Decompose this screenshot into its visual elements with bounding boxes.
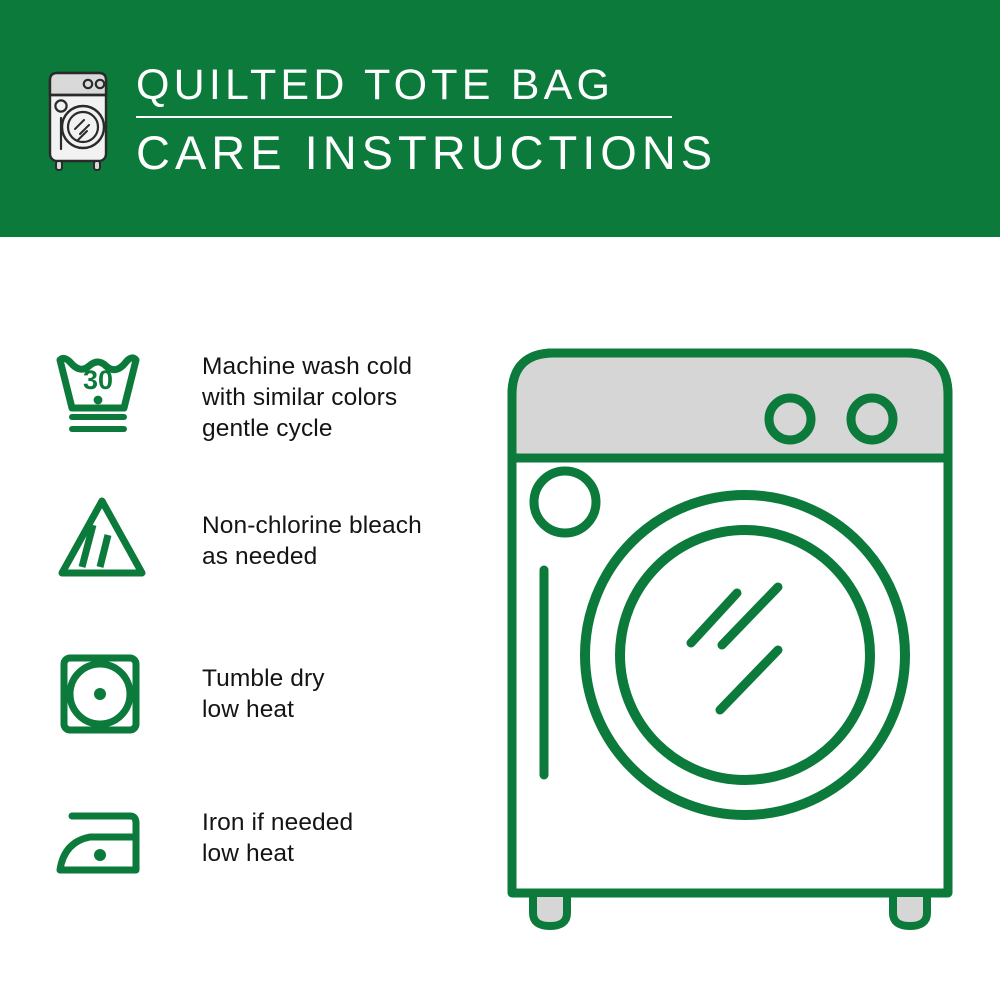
washing-machine-icon (44, 65, 114, 175)
title-divider (136, 116, 672, 118)
leg-right (893, 893, 927, 926)
care-instructions-list: 30 Machine wash cold with similar colors… (0, 237, 500, 1000)
care-row-machine-wash: 30 Machine wash cold with similar colors… (50, 342, 412, 445)
care-text-tumble-dry: Tumble dry low heat (202, 642, 325, 726)
wash-temperature-label: 30 (83, 365, 113, 395)
iron-low-heat-icon (50, 792, 154, 892)
tumble-dry-low-heat-icon (50, 642, 154, 742)
non-chlorine-bleach-triangle-icon (50, 487, 154, 587)
care-row-iron: Iron if needed low heat (50, 792, 353, 892)
care-text-iron: Iron if needed low heat (202, 792, 353, 870)
care-row-bleach: Non-chlorine bleach as needed (50, 487, 422, 587)
header-banner: QUILTED TOTE BAG CARE INSTRUCTIONS (0, 0, 1000, 237)
care-row-tumble-dry: Tumble dry low heat (50, 642, 325, 742)
leg-left (533, 893, 567, 926)
wash-tub-30-gentle-icon: 30 (50, 342, 154, 442)
care-text-machine-wash: Machine wash cold with similar colors ge… (202, 342, 412, 445)
care-instructions-page: QUILTED TOTE BAG CARE INSTRUCTIONS 30 Ma… (0, 0, 1000, 1000)
title-block: QUILTED TOTE BAG CARE INSTRUCTIONS (136, 63, 717, 180)
care-text-bleach: Non-chlorine bleach as needed (202, 487, 422, 573)
page-title-care-instructions: CARE INSTRUCTIONS (136, 122, 717, 180)
front-load-washing-machine-illustration (490, 325, 970, 935)
page-title-product: QUILTED TOTE BAG (136, 63, 717, 114)
header-content: QUILTED TOTE BAG CARE INSTRUCTIONS (44, 63, 717, 180)
